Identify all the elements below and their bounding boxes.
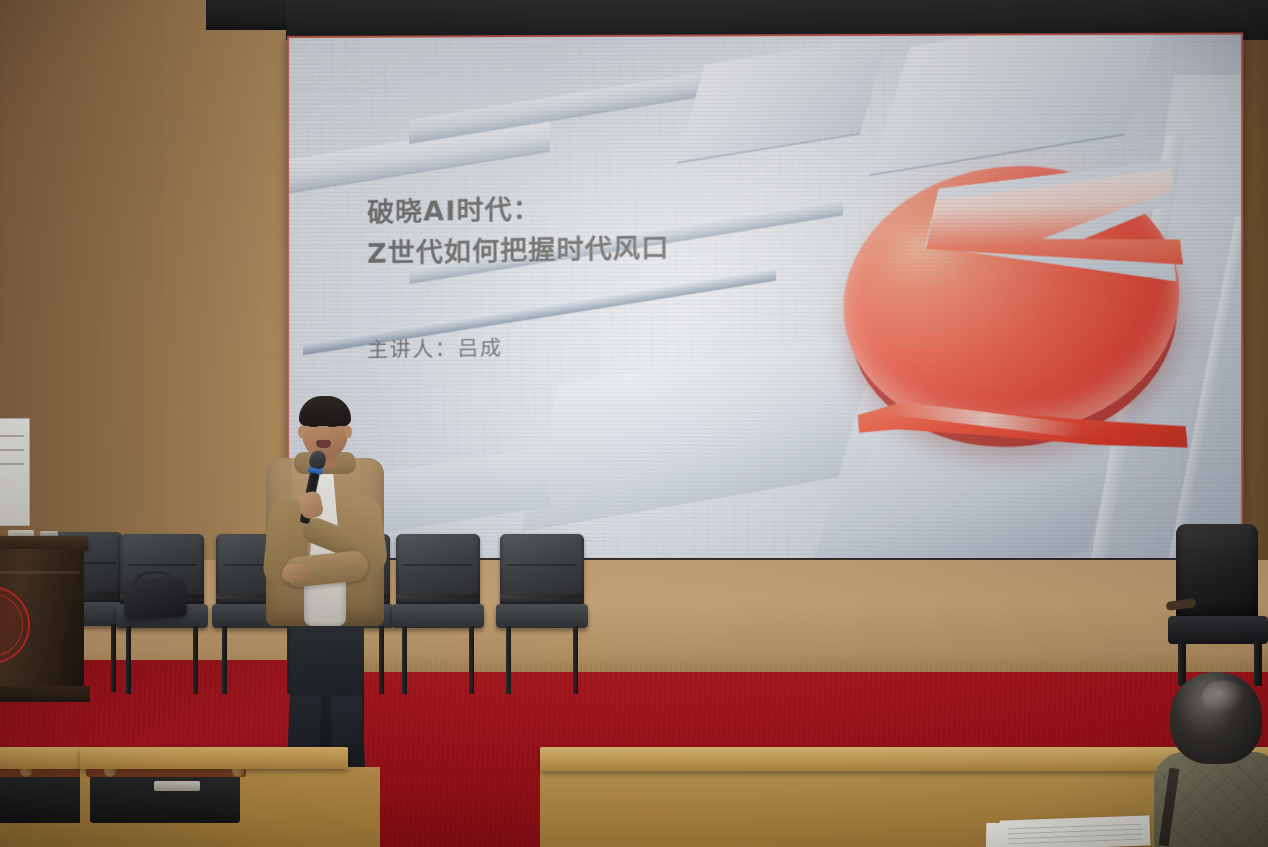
projection-screen: 破晓AI时代： Z世代如何把握时代风口 主讲人：吕成 xyxy=(287,33,1243,567)
emblem-ring xyxy=(0,593,23,657)
wall-left-shadow xyxy=(0,0,300,600)
red-swirl-logo xyxy=(813,146,1211,470)
wooden-lectern: 大 UNIVERSITY xyxy=(0,536,86,706)
slide-title-line-2: Z世代如何把握时代风口 xyxy=(367,228,669,275)
slide-title-line-1: 破晓AI时代： xyxy=(367,187,669,234)
wall-poster xyxy=(0,418,30,526)
speaker-ear-left xyxy=(298,426,305,438)
speaker-hair xyxy=(299,396,351,426)
paper-text-lines xyxy=(1008,822,1143,845)
lecture-hall-scene: 破晓AI时代： Z世代如何把握时代风口 主讲人：吕成 xyxy=(0,0,1268,847)
presentation-slide: 破晓AI时代： Z世代如何把握时代风口 主讲人：吕成 xyxy=(289,35,1241,565)
lectern-base xyxy=(0,686,90,702)
slide-title: 破晓AI时代： Z世代如何把握时代风口 xyxy=(367,187,669,275)
black-bag-on-chair xyxy=(123,576,187,619)
speaker-mouth xyxy=(316,440,331,448)
right-leather-armchair xyxy=(1172,524,1268,682)
auditorium-desk-left-2 xyxy=(80,747,380,847)
logo-swirl-highlight xyxy=(920,168,1183,295)
emblem-text: UNIVERSITY xyxy=(0,651,12,657)
lectern-top xyxy=(0,536,88,550)
slide-presenter-line: 主讲人：吕成 xyxy=(367,332,503,365)
handout-papers xyxy=(1000,815,1151,847)
audience-hair-highlight xyxy=(1202,680,1246,714)
audience-member xyxy=(1150,672,1268,847)
speaker-ear-right xyxy=(345,426,352,438)
